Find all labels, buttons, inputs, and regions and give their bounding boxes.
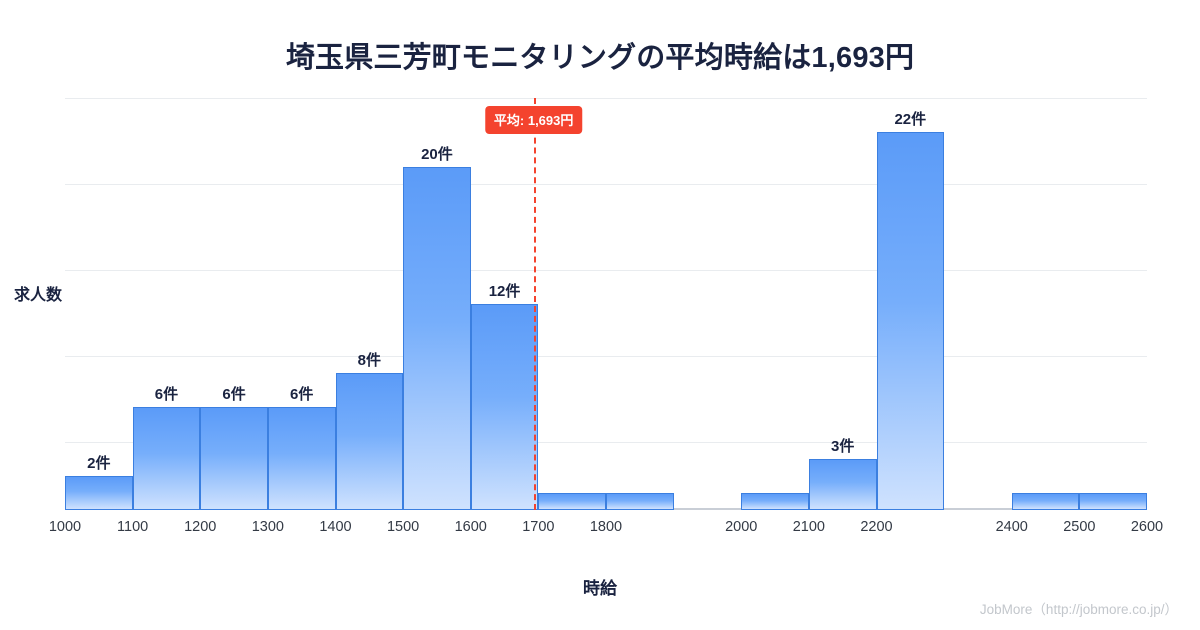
bar [538,493,606,510]
bar-value-label: 6件 [268,383,336,404]
bar [133,407,201,510]
bar [336,373,404,510]
x-tick-label: 2600 [1131,519,1163,535]
x-tick-label: 1300 [252,519,284,535]
bar [1012,493,1080,510]
bar-value-label: 6件 [200,383,268,404]
plot-area: 2件6件6件6件8件20件12件3件22件 [65,98,1147,510]
x-axis-label: 時給 [0,574,1200,599]
average-badge: 平均: 1,693円 [485,106,582,134]
bar [741,493,809,510]
bar [268,407,336,510]
x-tick-label: 1000 [49,519,81,535]
bar-value-label: 3件 [809,435,877,456]
x-tick-label: 1600 [455,519,487,535]
bar [877,132,945,510]
bar-value-label: 20件 [403,143,471,164]
x-tick-label: 1800 [590,519,622,535]
bar [606,493,674,510]
x-tick-label: 1400 [319,519,351,535]
y-axis-label: 求人数 [14,281,62,305]
x-tick-label: 2100 [793,519,825,535]
bar [471,304,539,510]
bar [809,459,877,511]
watermark: JobMore（http://jobmore.co.jp/） [980,598,1178,618]
page-title: 埼玉県三芳町モニタリングの平均時給は1,693円 [0,34,1200,76]
x-tick-label: 1500 [387,519,419,535]
bar [200,407,268,510]
x-tick-label: 2400 [996,519,1028,535]
bar [1079,493,1147,510]
x-tick-label: 1100 [117,519,148,535]
bar [403,167,471,510]
average-line [534,98,536,510]
bar-value-label: 22件 [877,108,945,129]
x-tick-label: 2500 [1063,519,1095,535]
chart-page: 埼玉県三芳町モニタリングの平均時給は1,693円 求人数 2件6件6件6件8件2… [0,0,1200,630]
x-tick-label: 1700 [522,519,554,535]
bar-value-label: 6件 [133,383,201,404]
bar-value-label: 2件 [65,452,133,473]
bar-series: 2件6件6件6件8件20件12件3件22件 [65,98,1147,510]
x-tick-label: 2200 [860,519,892,535]
bar-value-label: 8件 [336,349,404,370]
bar [65,476,133,510]
x-tick-label: 2000 [725,519,757,535]
bar-value-label: 12件 [471,280,539,301]
x-tick-label: 1200 [184,519,216,535]
